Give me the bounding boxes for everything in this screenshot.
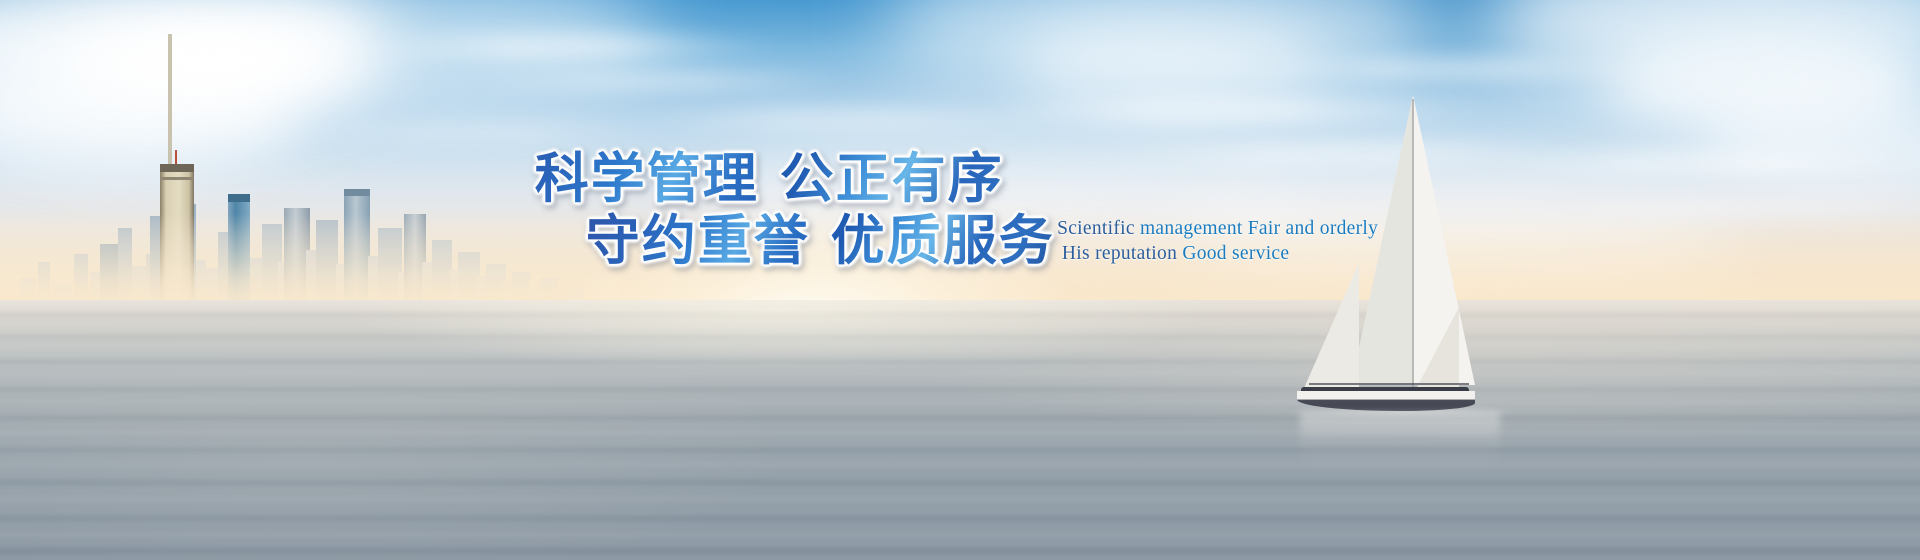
secondary-sail [1413,307,1459,395]
subtitle-line-1-lead: Scientific [1057,218,1140,239]
subtitle-group: Scientific management Fair and orderly H… [1059,216,1378,266]
headline-line-2: 守约重誉 优质服务 [586,210,1055,272]
boom [1309,383,1469,385]
ocean-water [0,300,1920,560]
jib-sail [1301,263,1359,395]
headline-line-1: 科学管理 公正有序 [484,148,1055,210]
subtitle-line-1: Scientific management Fair and orderly [1057,216,1378,241]
subtitle-line-2-lead: His reputation [1062,243,1182,264]
hero-banner: 科学管理 公正有序 守约重誉 优质服务 Scientific managemen… [0,0,1920,560]
hull [1297,391,1475,411]
subtitle-line-2-accent: Good service [1182,243,1289,264]
subtitle-line-1-accent: management Fair and orderly [1140,218,1378,239]
headline-group: 科学管理 公正有序 守约重誉 优质服务 [542,148,1055,272]
